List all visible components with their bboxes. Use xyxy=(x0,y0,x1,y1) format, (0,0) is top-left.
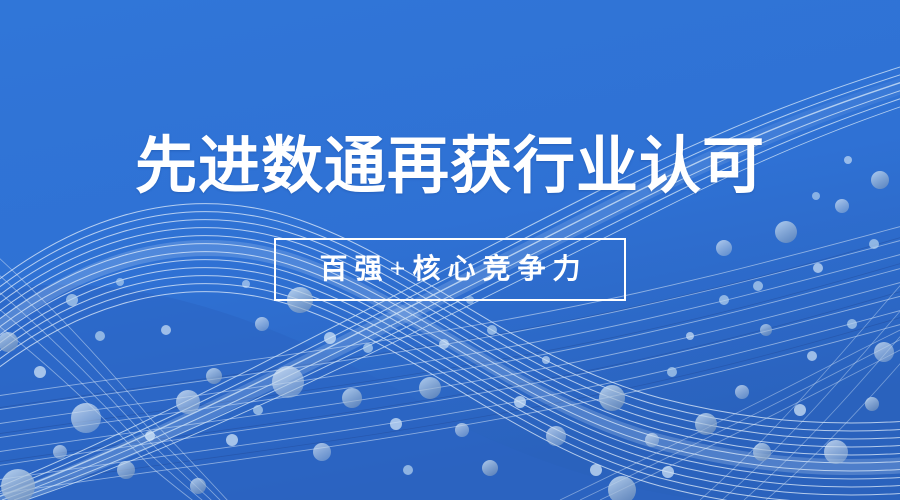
banner-content: 先进数通再获行业认可 百强+核心竞争力 xyxy=(0,0,900,500)
subtitle-box: 百强+核心竞争力 xyxy=(274,238,626,301)
promo-banner: 先进数通再获行业认可 百强+核心竞争力 xyxy=(0,0,900,500)
page-title: 先进数通再获行业认可 xyxy=(135,136,765,198)
subtitle-text: 百强+核心竞争力 xyxy=(313,256,588,284)
